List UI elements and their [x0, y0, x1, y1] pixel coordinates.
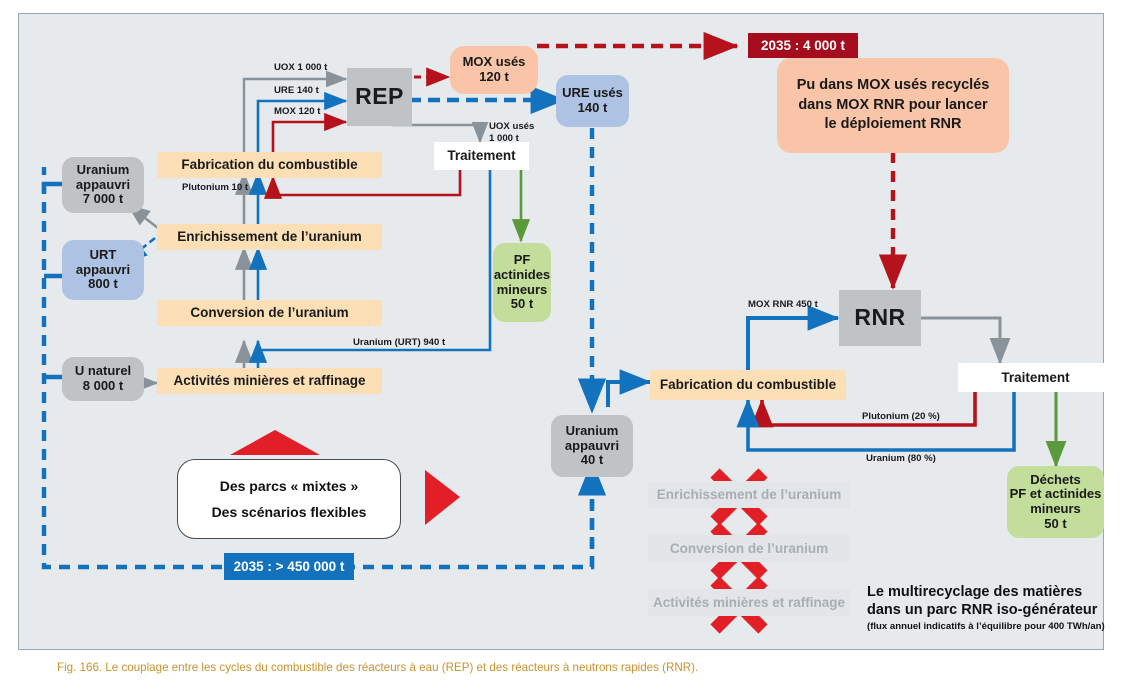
store-line2: appauvri	[76, 263, 130, 278]
store-line4: 50 t	[1044, 517, 1066, 532]
tag-2035-450000t[interactable]: 2035 : > 450 000 t	[224, 553, 354, 580]
figure-root: Fabrication du combustible Enrichissemen…	[0, 0, 1124, 694]
rep-enrichissement-label: Enrichissement de l’uranium	[177, 229, 362, 244]
rep-traitement-label: Traitement	[447, 148, 515, 163]
faded-step-label: Enrichissement de l’uranium	[657, 487, 842, 502]
rnr-fabrication-label: Fabrication du combustible	[660, 377, 836, 392]
store-uranium-appauvri-40t[interactable]: Uranium appauvri 40 t	[551, 415, 633, 477]
tag-label: 2035 : 4 000 t	[761, 38, 845, 53]
rnr-note: Le multirecyclage des matières dans un p…	[867, 583, 1112, 632]
label-uox-uses-line2: 1 000 t	[489, 133, 519, 144]
rnr-reactor-box[interactable]: RNR	[839, 290, 921, 346]
store-line2: appauvri	[565, 439, 619, 454]
rnr-traitement-label: Traitement	[1001, 370, 1069, 385]
tag-2035-4000t[interactable]: 2035 : 4 000 t	[748, 33, 858, 58]
label-mox-rnr-450t: MOX RNR 450 t	[748, 299, 818, 310]
faded-step-conversion: Conversion de l’uranium	[648, 535, 850, 562]
store-line2: PF et actinides	[1010, 487, 1102, 502]
callout-line1: Pu dans MOX usés recyclés	[797, 76, 990, 96]
rnr-note-line2: dans un parc RNR iso-générateur	[867, 601, 1112, 619]
label-uox-uses-line1: UOX usés	[489, 121, 534, 132]
rep-reactor-label: REP	[355, 84, 404, 110]
label-mox-120t: MOX 120 t	[274, 106, 320, 117]
store-line1: MOX usés	[463, 55, 526, 70]
callout-pu-dans-mox[interactable]: Pu dans MOX usés recyclés dans MOX RNR p…	[777, 58, 1009, 153]
store-line1: URE usés	[562, 86, 623, 101]
store-line1: PF	[514, 253, 531, 268]
store-line3: mineurs	[1030, 502, 1081, 517]
label-uox-1000t: UOX 1 000 t	[274, 62, 327, 73]
store-line2: 8 000 t	[83, 379, 123, 394]
store-u-naturel-8000t[interactable]: U naturel 8 000 t	[62, 357, 144, 401]
rep-traitement-box[interactable]: Traitement	[434, 142, 529, 170]
label-plutonium-10t: Plutonium 10 t	[182, 182, 248, 193]
store-line3: 7 000 t	[83, 192, 123, 207]
store-line1: Uranium	[566, 424, 619, 439]
store-line4: 50 t	[511, 297, 533, 312]
callout-parcs-mixtes[interactable]: Des parcs « mixtes » Des scénarios flexi…	[177, 459, 401, 539]
store-line3: mineurs	[497, 283, 548, 298]
store-line2: 120 t	[479, 70, 509, 85]
label-uranium-80pct: Uranium (80 %)	[866, 453, 936, 464]
rep-minier-label: Activités minières et raffinage	[173, 373, 365, 388]
store-line1: Déchets	[1030, 473, 1081, 488]
store-line2: 140 t	[578, 101, 608, 116]
rep-fabrication-box[interactable]: Fabrication du combustible	[157, 152, 382, 178]
store-line1: Uranium	[77, 163, 130, 178]
faded-step-enrichissement: Enrichissement de l’uranium	[648, 481, 850, 508]
store-line2: actinides	[494, 268, 550, 283]
rep-fabrication-label: Fabrication du combustible	[181, 157, 357, 172]
rep-enrichissement-box[interactable]: Enrichissement de l’uranium	[157, 224, 382, 250]
store-pf-actinides-mineurs-50t[interactable]: PF actinides mineurs 50 t	[493, 243, 551, 322]
store-line3: 800 t	[88, 277, 118, 292]
rep-conversion-label: Conversion de l’uranium	[190, 305, 348, 320]
mixtes-line2: Des scénarios flexibles	[212, 504, 367, 520]
store-line2: appauvri	[76, 178, 130, 193]
label-plutonium-20pct: Plutonium (20 %)	[862, 411, 940, 422]
store-ure-uses-140t[interactable]: URE usés 140 t	[556, 75, 629, 127]
store-line3: 40 t	[581, 453, 603, 468]
store-line1: U naturel	[75, 364, 131, 379]
rnr-traitement-box[interactable]: Traitement	[958, 363, 1113, 392]
rep-reactor-box[interactable]: REP	[347, 68, 412, 126]
faded-step-minier: Activités minières et raffinage	[648, 589, 850, 616]
store-urt-appauvri-800t[interactable]: URT appauvri 800 t	[62, 240, 144, 300]
rnr-note-line3: (flux annuel indicatifs à l’équilibre po…	[867, 621, 1112, 632]
label-ure-140t: URE 140 t	[274, 85, 319, 96]
store-dechets-pf-actinides-50t[interactable]: Déchets PF et actinides mineurs 50 t	[1007, 466, 1104, 538]
faded-step-label: Activités minières et raffinage	[653, 595, 845, 610]
callout-line2: dans MOX RNR pour lancer	[798, 96, 987, 116]
store-uranium-appauvri-7000t[interactable]: Uranium appauvri 7 000 t	[62, 157, 144, 213]
rep-conversion-box[interactable]: Conversion de l’uranium	[157, 300, 382, 326]
rnr-note-line1: Le multirecyclage des matières	[867, 583, 1112, 601]
faded-step-label: Conversion de l’uranium	[670, 541, 828, 556]
rep-minier-box[interactable]: Activités minières et raffinage	[157, 368, 382, 394]
label-uranium-urt-940t: Uranium (URT) 940 t	[353, 337, 445, 348]
rnr-fabrication-box[interactable]: Fabrication du combustible	[650, 370, 846, 400]
tag-label: 2035 : > 450 000 t	[234, 559, 345, 574]
store-line1: URT	[90, 248, 117, 263]
mixtes-line1: Des parcs « mixtes »	[220, 478, 359, 494]
callout-line3: le déploiement RNR	[825, 115, 962, 135]
store-mox-uses-120t[interactable]: MOX usés 120 t	[450, 46, 538, 94]
figure-caption: Fig. 166. Le couplage entre les cycles d…	[57, 661, 698, 674]
rnr-reactor-label: RNR	[854, 305, 905, 331]
